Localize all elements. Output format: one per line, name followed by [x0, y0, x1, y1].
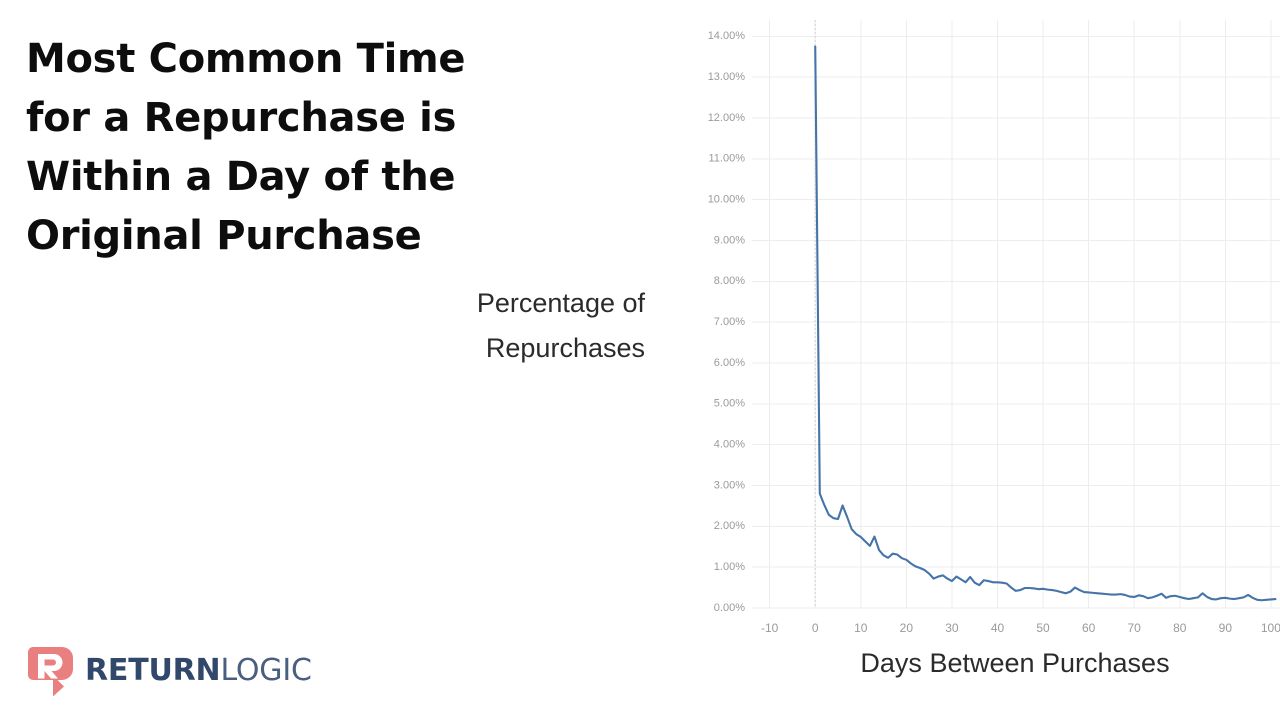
- y-tick-label: 6.00%: [714, 357, 745, 369]
- x-tick-label: 50: [1036, 621, 1050, 635]
- x-tick-label: 30: [945, 621, 959, 635]
- x-tick-label: 90: [1219, 621, 1233, 635]
- x-tick-label: -10: [761, 621, 779, 635]
- x-tick-label: 80: [1173, 621, 1187, 635]
- y-tick-label: 11.00%: [709, 153, 746, 165]
- line-chart: 0.00%1.00%2.00%3.00%4.00%5.00%6.00%7.00%…: [694, 8, 1280, 640]
- logo-word-logic: LOGIC: [220, 653, 311, 688]
- page-title-line-2: for a Repurchase is: [26, 89, 456, 148]
- y-tick-label: 3.00%: [714, 479, 745, 491]
- horizontal-gridlines: [752, 36, 1280, 608]
- y-tick-label: 4.00%: [714, 439, 745, 451]
- y-tick-label: 14.00%: [708, 30, 746, 42]
- y-tick-label: 0.00%: [714, 602, 745, 614]
- returnlogic-mark-icon: [27, 645, 74, 697]
- repurchase-percentage-line: [815, 47, 1275, 601]
- y-axis-tick-labels: 0.00%1.00%2.00%3.00%4.00%5.00%6.00%7.00%…: [708, 30, 746, 614]
- x-tick-label: 40: [991, 621, 1005, 635]
- x-axis-tick-labels: -100102030405060708090100: [761, 621, 1280, 635]
- y-tick-label: 8.00%: [714, 275, 745, 287]
- x-tick-label: 10: [854, 621, 868, 635]
- page-title-line-4: Original Purchase: [26, 207, 456, 266]
- x-tick-label: 100: [1261, 621, 1280, 635]
- returnlogic-logo: RETURNLOGIC: [27, 645, 312, 697]
- page-title: Most Common Time for a Repurchase is Wit…: [26, 30, 456, 266]
- y-tick-label: 9.00%: [714, 234, 745, 246]
- y-axis-title-line-2: Repurchases: [330, 326, 645, 371]
- y-tick-label: 12.00%: [708, 112, 746, 124]
- y-axis-title-line-1: Percentage of: [330, 281, 645, 326]
- y-tick-label: 5.00%: [714, 398, 745, 410]
- x-axis-title: Days Between Purchases: [760, 648, 1270, 679]
- vertical-gridlines: [770, 20, 1271, 608]
- y-tick-label: 2.00%: [714, 520, 745, 532]
- logo-word-return: RETURN: [85, 653, 220, 688]
- x-tick-label: 0: [812, 621, 819, 635]
- y-axis-title: Percentage of Repurchases: [330, 281, 645, 371]
- y-tick-label: 10.00%: [708, 194, 746, 206]
- y-tick-label: 1.00%: [714, 561, 745, 573]
- page-title-line-1: Most Common Time: [26, 30, 456, 89]
- x-tick-label: 60: [1082, 621, 1096, 635]
- returnlogic-wordmark: RETURNLOGIC: [85, 656, 312, 686]
- chart-canvas: 0.00%1.00%2.00%3.00%4.00%5.00%6.00%7.00%…: [694, 8, 1280, 640]
- x-tick-label: 20: [900, 621, 914, 635]
- y-tick-label: 13.00%: [708, 71, 746, 83]
- x-tick-label: 70: [1128, 621, 1142, 635]
- page-title-line-3: Within a Day of the: [26, 148, 456, 207]
- y-tick-label: 7.00%: [714, 316, 745, 328]
